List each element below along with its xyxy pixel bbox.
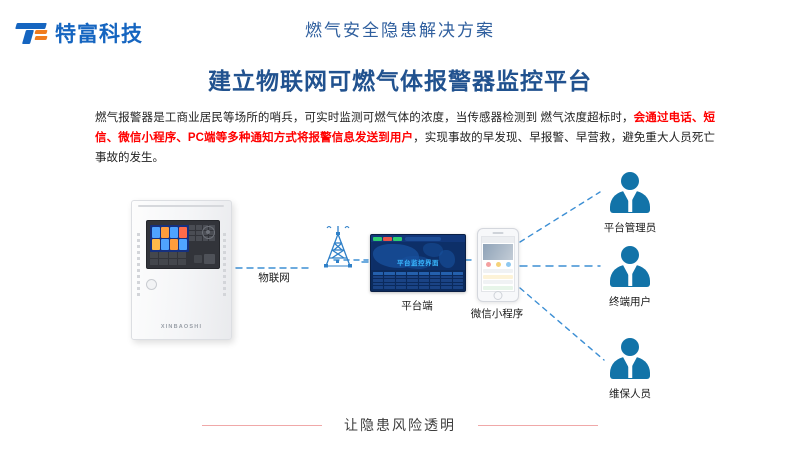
footer-divider-right bbox=[478, 425, 598, 426]
footer-divider-left bbox=[202, 425, 322, 426]
panel-vent-right bbox=[223, 233, 226, 299]
panel-indicator-led bbox=[146, 279, 157, 290]
panel-top-trim bbox=[138, 205, 224, 207]
device-brand-text: XINBAOSHI bbox=[132, 324, 231, 330]
body-paragraph: 燃气报警器是工商业居民等场所的哨兵，可实时监测可燃气体的浓度，当传感器检测到 燃… bbox=[95, 108, 715, 168]
person-suit-icon bbox=[607, 246, 653, 292]
dashboard-topbar bbox=[371, 235, 465, 242]
panel-dial-knob bbox=[202, 226, 215, 239]
dashboard-data-table bbox=[373, 272, 463, 289]
panel-square-button bbox=[194, 255, 202, 263]
recipient-label-0: 平台管理员 bbox=[578, 220, 682, 235]
panel-keypad-bottom bbox=[150, 252, 186, 265]
header-title: 燃气安全隐患解决方案 bbox=[0, 16, 800, 41]
platform-label: 平台端 bbox=[370, 298, 464, 313]
gas-alarm-control-panel: XINBAOSHI bbox=[131, 200, 232, 340]
recipient-label-1: 终端用户 bbox=[578, 294, 682, 309]
platform-dashboard-screen: 平台监控界面 bbox=[370, 234, 466, 292]
signal-tower-icon bbox=[318, 224, 358, 270]
person-suit-icon bbox=[607, 338, 653, 384]
dashboard-search-field[interactable] bbox=[405, 237, 441, 241]
panel-display bbox=[146, 220, 220, 269]
dashboard-title: 平台监控界面 bbox=[371, 257, 465, 267]
recipient-label-2: 维保人员 bbox=[578, 386, 682, 401]
dashboard-map: 平台监控界面 bbox=[371, 242, 465, 270]
page-title: 建立物联网可燃气体报警器监控平台 bbox=[0, 62, 800, 96]
panel-vent-left bbox=[137, 233, 140, 299]
paragraph-segment-1: 燃气报警器是工商业居民等场所的哨兵，可实时监测可燃气体的浓度，当传感器检测到 燃… bbox=[95, 112, 634, 124]
smartphone-icon bbox=[477, 228, 519, 302]
footer-tagline: 让隐患风险透明 bbox=[344, 415, 456, 435]
lcd-icon-grid bbox=[150, 225, 189, 252]
phone-speaker bbox=[493, 232, 504, 234]
person-suit-icon bbox=[607, 172, 653, 218]
phone-home-button bbox=[494, 291, 503, 300]
panel-rect-button bbox=[204, 254, 215, 264]
footer: 让隐患风险透明 bbox=[0, 415, 800, 435]
phone-screen bbox=[481, 236, 515, 292]
iot-label: 物联网 bbox=[236, 270, 312, 285]
solution-diagram: XINBAOSHI 物联网 bbox=[0, 170, 800, 410]
miniprogram-label: 微信小程序 bbox=[462, 306, 532, 321]
slide-root: 特富科技 燃气安全隐患解决方案 建立物联网可燃气体报警器监控平台 燃气报警器是工… bbox=[0, 0, 800, 450]
